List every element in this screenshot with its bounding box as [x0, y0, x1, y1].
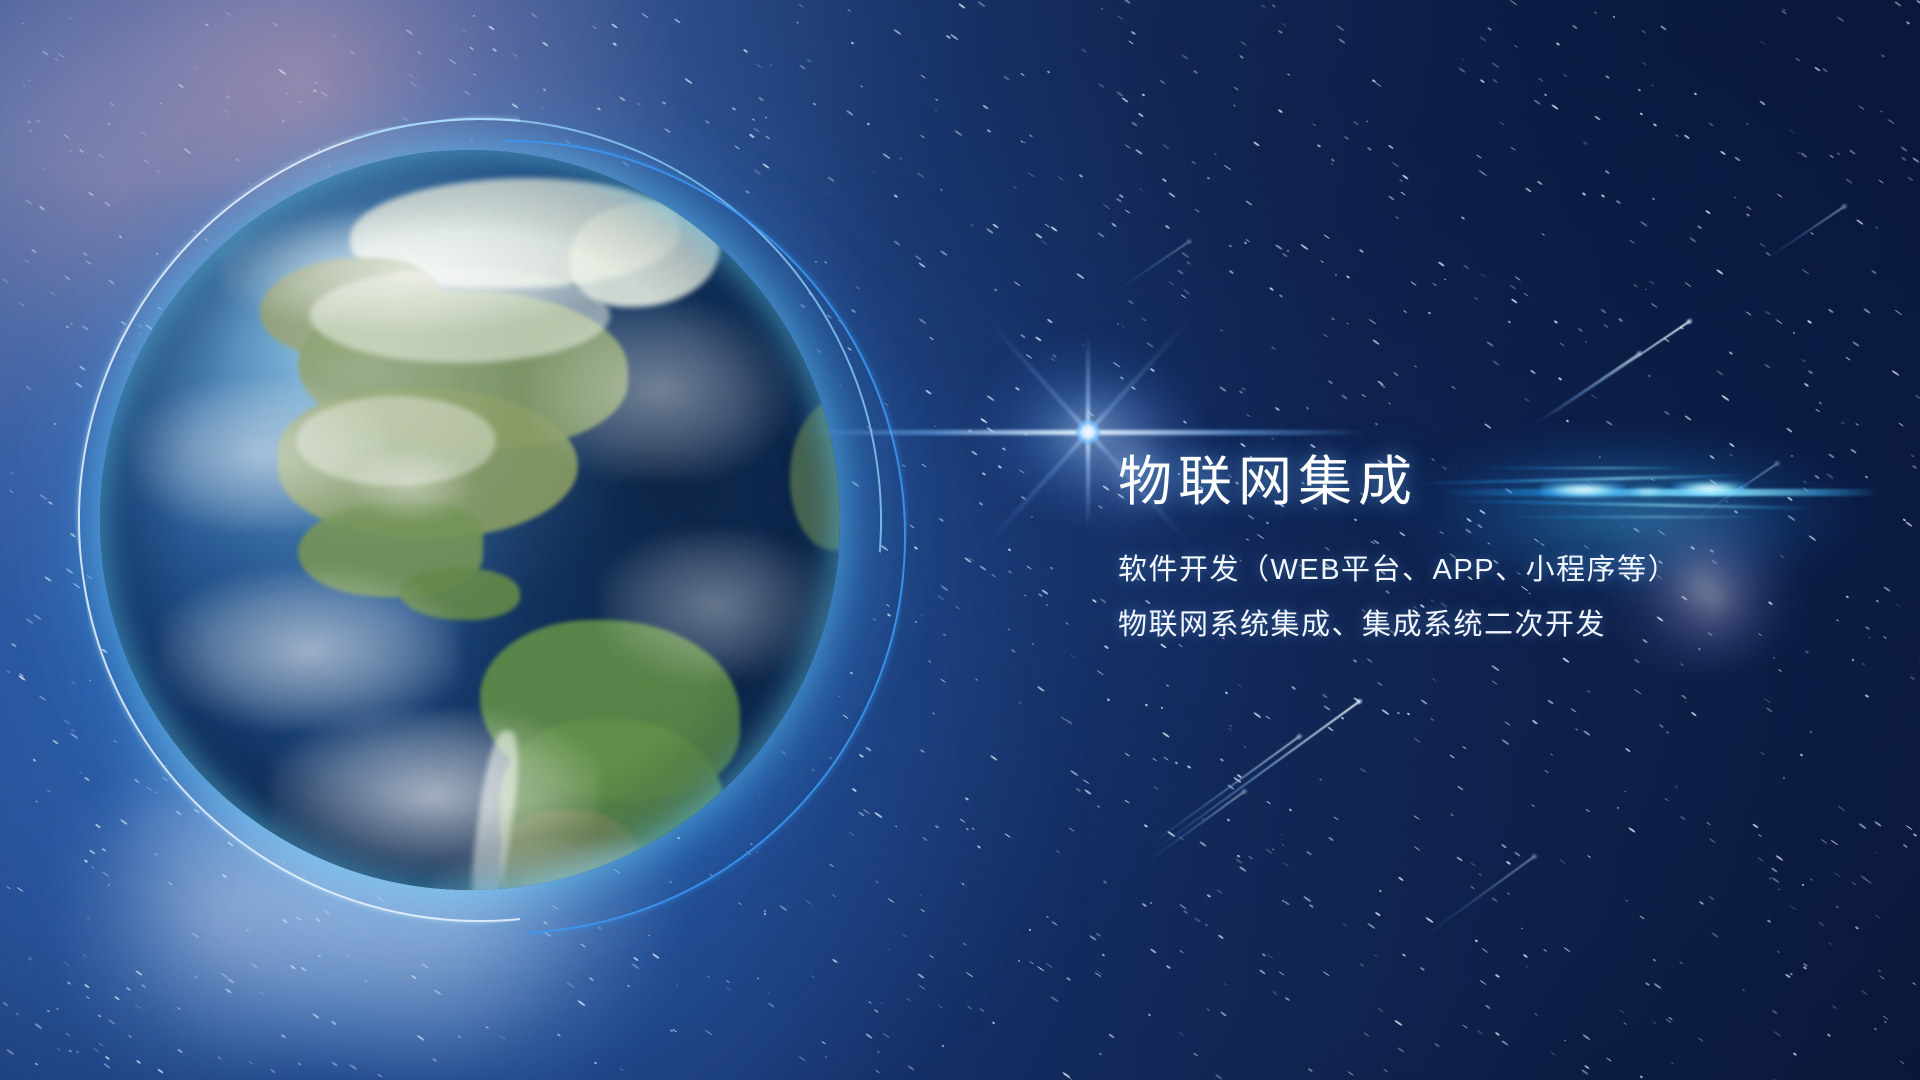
page-title: 物联网集成	[1118, 451, 1878, 515]
subtitle-list: 软件开发（WEB平台、APP、小程序等） 物联网系统集成、集成系统二次开发	[1118, 551, 1878, 645]
meteor-streak	[1115, 240, 1191, 292]
meteor-streak	[1146, 735, 1301, 848]
meteor-streak	[1147, 790, 1245, 862]
meteor-streak	[1540, 320, 1690, 422]
subtitle-line-1: 软件开发（WEB平台、APP、小程序等）	[1118, 551, 1878, 590]
hero-banner: 物联网集成 软件开发（WEB平台、APP、小程序等） 物联网系统集成、集成系统二…	[0, 0, 1920, 1080]
meteor-streak	[1766, 205, 1846, 260]
hero-text-block: 物联网集成 软件开发（WEB平台、APP、小程序等） 物联网系统集成、集成系统二…	[1118, 415, 1878, 645]
subtitle-line-2: 物联网系统集成、集成系统二次开发	[1118, 606, 1878, 645]
meteor-streak	[1421, 855, 1535, 939]
meteor-streak	[1157, 700, 1360, 849]
